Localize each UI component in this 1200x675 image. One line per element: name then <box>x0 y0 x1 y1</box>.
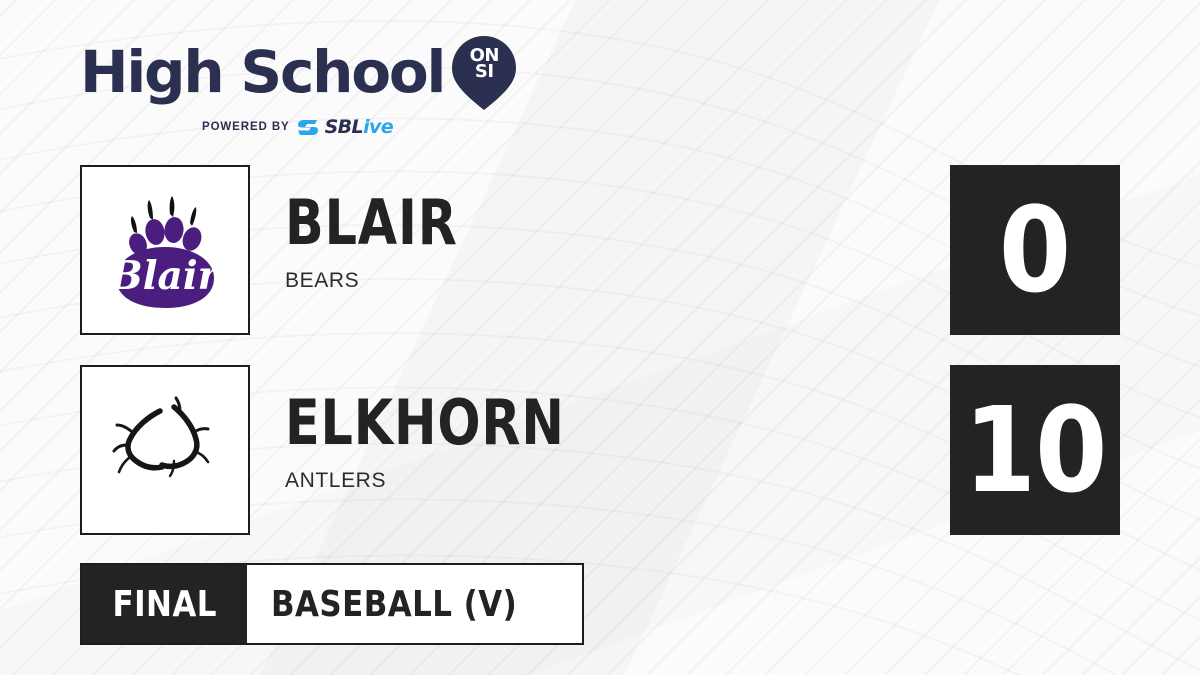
brand-logo: High School ON SI <box>80 36 516 110</box>
blair-bears-paw-logo: Blair <box>80 165 250 335</box>
team-name: ELKHORN <box>285 393 793 453</box>
sblive-word-blue: ive <box>363 116 393 138</box>
pin-label-line2: SI <box>452 64 516 80</box>
sblive-wordmark: SBLive <box>325 116 393 138</box>
powered-by-row: POWERED BY SBLive <box>202 116 516 138</box>
elkhorn-antlers-logo <box>80 365 250 535</box>
team-text: BLAIR BEARS <box>285 193 905 293</box>
team-mascot: ANTLERS <box>285 469 905 493</box>
sblive-s-mark-icon <box>297 119 318 136</box>
sblive-word-dark: SBL <box>325 116 363 138</box>
location-pin-icon: ON SI <box>452 36 516 110</box>
team-name: BLAIR <box>285 193 793 253</box>
score-value: 0 <box>999 191 1070 309</box>
team-text: ELKHORN ANTLERS <box>285 393 905 493</box>
brand-title: High School <box>80 45 444 100</box>
sport-label-container: BASEBALL (V) <box>247 565 581 643</box>
sport-label: BASEBALL (V) <box>271 584 517 625</box>
score-box: 0 <box>950 165 1120 335</box>
score-value: 10 <box>964 391 1107 509</box>
score-box: 10 <box>950 365 1120 535</box>
status-badge-label: FINAL <box>112 584 216 625</box>
pin-label: ON SI <box>452 48 516 80</box>
scoreboard-graphic: High School ON SI POWERED BY SBLive <box>0 0 1200 675</box>
powered-by-label: POWERED BY <box>202 121 290 133</box>
svg-text:Blair: Blair <box>109 253 221 299</box>
status-bar: FINAL BASEBALL (V) <box>80 563 584 645</box>
status-badge: FINAL <box>82 565 247 643</box>
brand-header: High School ON SI POWERED BY SBLive <box>80 36 516 138</box>
team-mascot: BEARS <box>285 269 905 293</box>
